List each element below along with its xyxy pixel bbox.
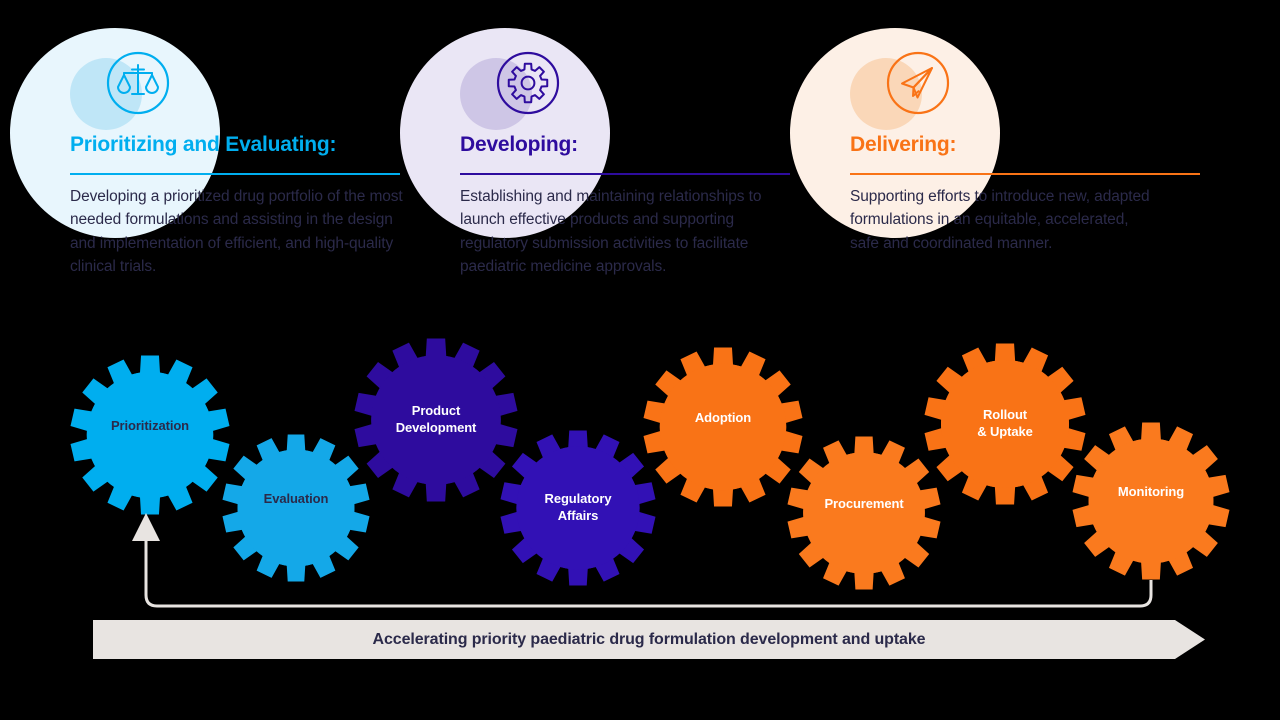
feedback-loop-arrowhead [132,513,160,541]
gear-body-procurement[interactable] [803,452,925,574]
gears-svg [0,0,1280,720]
gear-body-evaluation[interactable] [238,450,355,567]
gear-body-product-development[interactable] [371,355,501,485]
infographic-canvas: Prioritizing and Evaluating:Developing a… [0,0,1280,720]
gear-body-monitoring[interactable] [1089,439,1214,564]
gear-body-prioritization[interactable] [87,372,213,498]
gear-body-rollout-uptake[interactable] [941,360,1069,488]
gear-body-regulatory-affairs[interactable] [516,446,639,569]
gear-body-adoption[interactable] [660,364,786,490]
